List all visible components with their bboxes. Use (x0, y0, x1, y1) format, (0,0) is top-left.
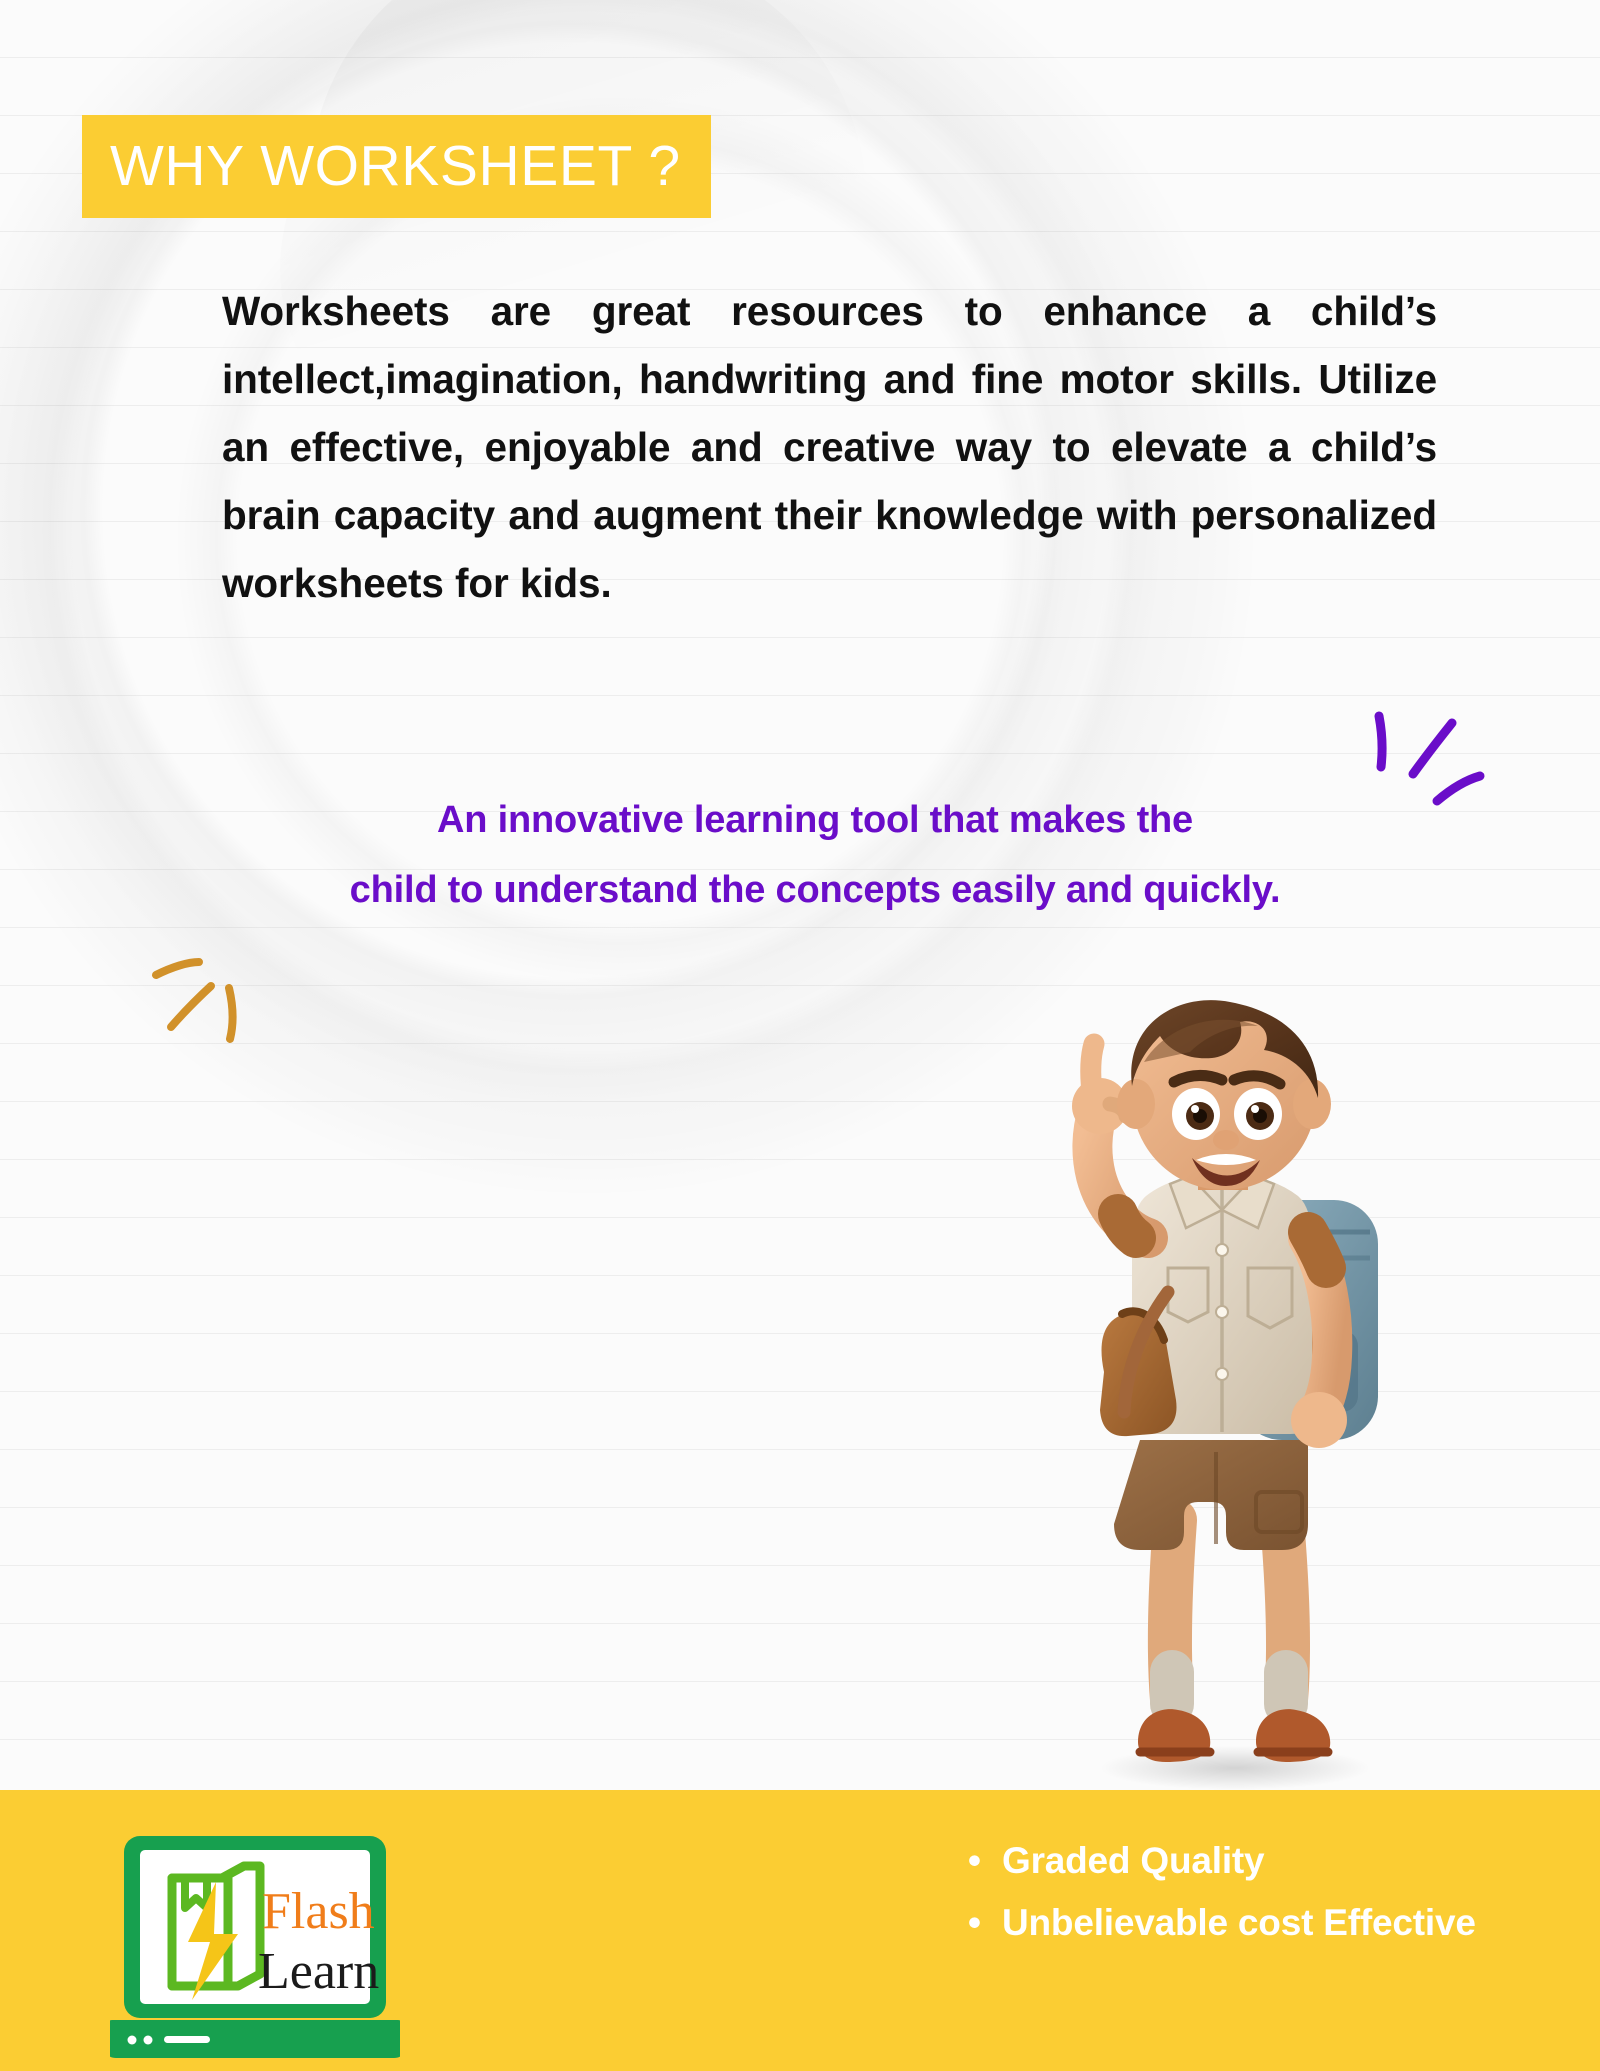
svg-text:Flash: Flash (262, 1883, 375, 1940)
tagline-line-1: An innovative learning tool that makes t… (150, 785, 1480, 855)
benefit-item: •Unbelievable cost Effective (968, 1894, 1548, 1952)
bullet-icon: • (968, 1832, 1002, 1890)
benefit-label: Graded Quality (1002, 1832, 1548, 1890)
intro-paragraph: Worksheets are great resources to enhanc… (222, 277, 1437, 617)
schoolboy-illustration (1020, 1000, 1450, 1790)
benefits-list: •Graded Quality•Unbelievable cost Effect… (968, 1832, 1548, 1956)
benefit-label: Unbelievable cost Effective (1002, 1894, 1548, 1952)
tagline-block: An innovative learning tool that makes t… (150, 785, 1480, 925)
footer-bar: Flash Learn •Graded Quality•Unbelievable… (0, 1790, 1600, 2071)
svg-text:Learn: Learn (258, 1943, 379, 2000)
orange-accent-strokes-icon (138, 944, 278, 1059)
page-title: WHY WORKSHEET ? (110, 138, 681, 195)
poster-page: WHY WORKSHEET ? Worksheets are great res… (0, 0, 1600, 2071)
benefit-item: •Graded Quality (968, 1832, 1548, 1890)
tagline-line-2: child to understand the concepts easily … (150, 855, 1480, 925)
brand-logo[interactable]: Flash Learn (110, 1830, 400, 2071)
page-title-band: WHY WORKSHEET ? (82, 115, 711, 218)
bullet-icon: • (968, 1894, 1002, 1952)
